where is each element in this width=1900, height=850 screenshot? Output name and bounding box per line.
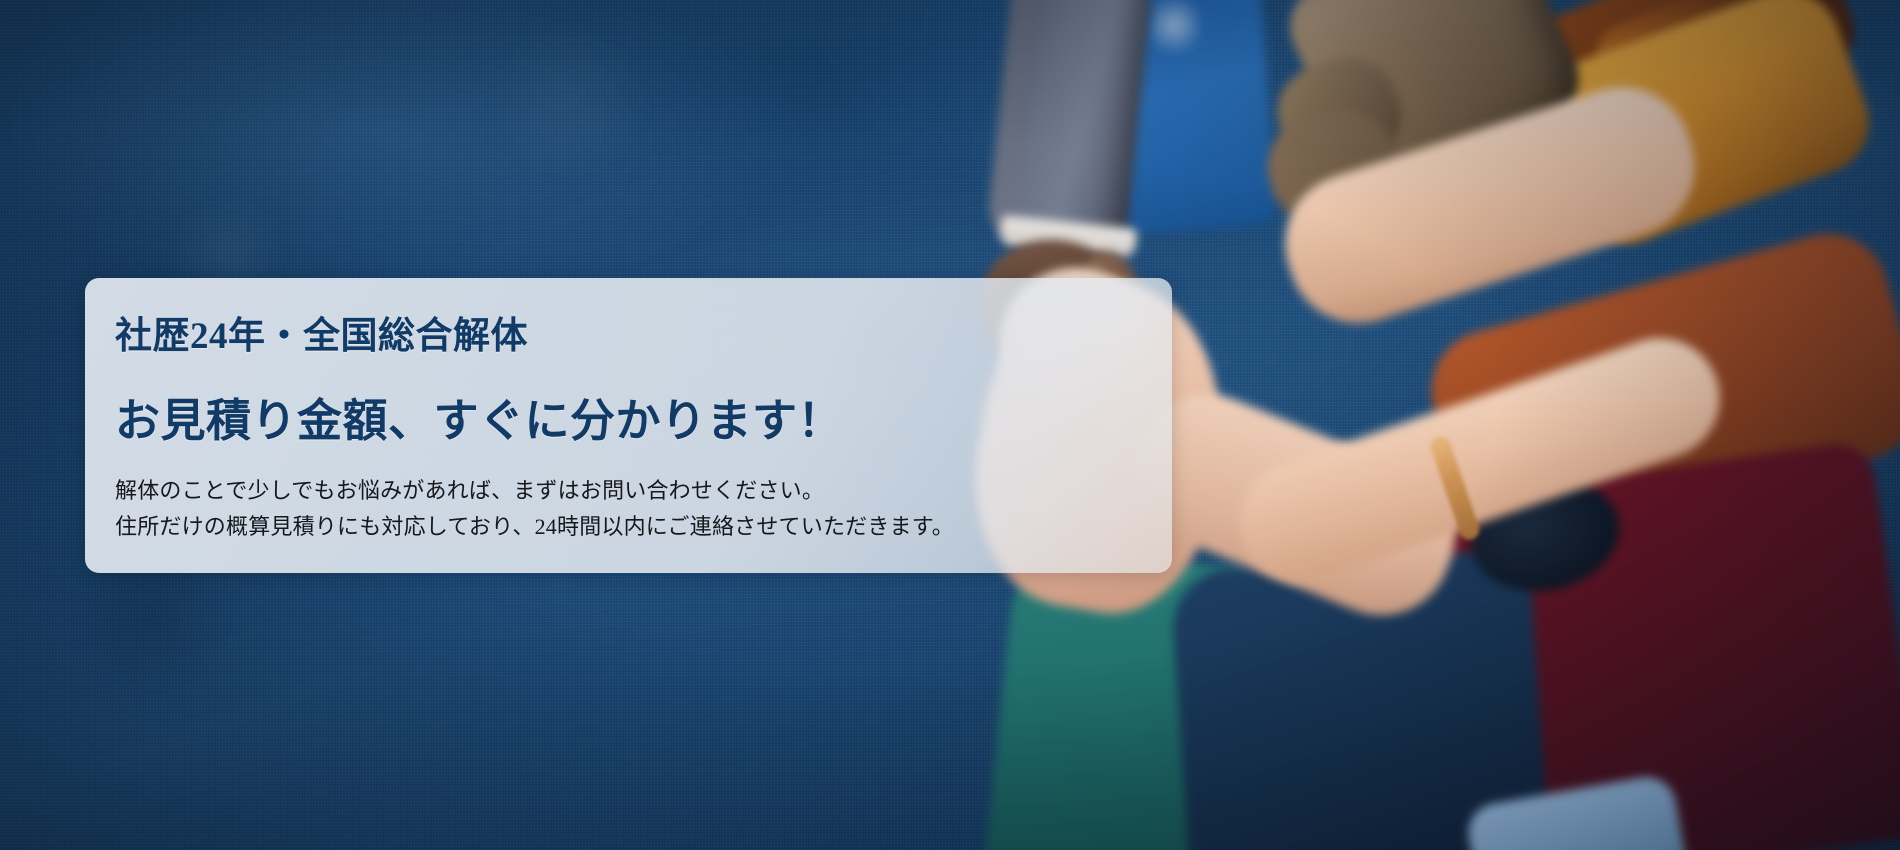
- hero-lead-paragraph: 解体のことで少しでもお悩みがあれば、まずはお問い合わせください。 住所だけの概算…: [115, 473, 1142, 544]
- hero-lead-line-2: 住所だけの概算見積りにも対応しており、24時間以内にご連絡させていただきます。: [115, 509, 1142, 545]
- hero-headline-secondary: お見積り金額、すぐに分かります！: [115, 394, 1142, 449]
- hero-banner: 社歴24年・全国総合解体 お見積り金額、すぐに分かります！ 解体のことで少しでも…: [0, 0, 1900, 850]
- hero-lead-line-1: 解体のことで少しでもお悩みがあれば、まずはお問い合わせください。: [115, 473, 1142, 509]
- hero-headline-primary: 社歴24年・全国総合解体: [115, 314, 1142, 360]
- hero-message-card: 社歴24年・全国総合解体 お見積り金額、すぐに分かります！ 解体のことで少しでも…: [85, 278, 1172, 573]
